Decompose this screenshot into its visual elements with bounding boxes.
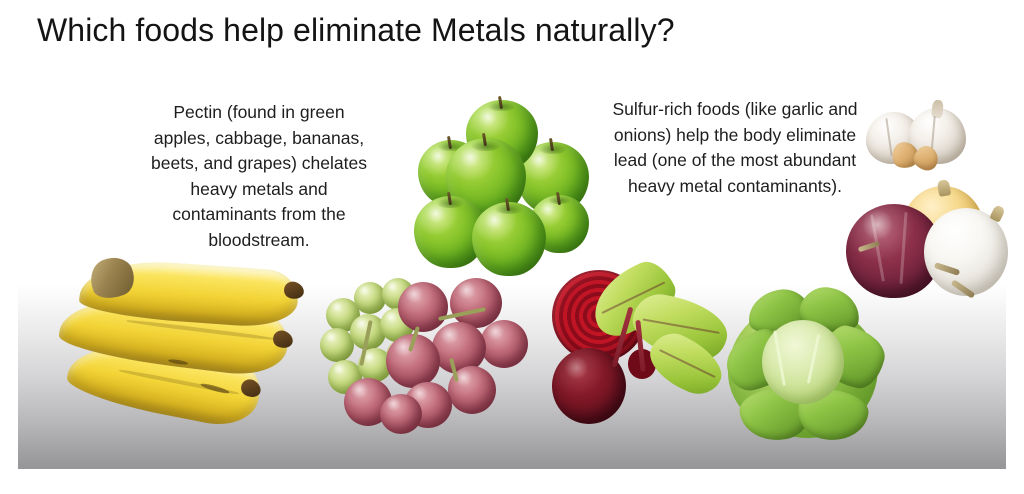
- grape-green: [320, 328, 354, 362]
- bananas-image: [18, 258, 310, 446]
- grapes-image: [320, 274, 540, 456]
- slide-canvas: Which foods help eliminate Metals natura…: [0, 0, 1024, 494]
- grape-red: [380, 394, 422, 434]
- cabbage-image: [726, 284, 882, 454]
- garlic-image: [866, 102, 978, 174]
- callout-text-right: Sulfur-rich foods (like garlic and onion…: [611, 97, 859, 199]
- callout-text-left: Pectin (found in green apples, cabbage, …: [143, 100, 375, 253]
- grape-green: [354, 282, 386, 314]
- onion-tip: [937, 179, 952, 197]
- beets-image: [552, 270, 732, 458]
- grape-red: [450, 278, 502, 328]
- page-title: Which foods help eliminate Metals natura…: [37, 12, 675, 49]
- grape-red: [398, 282, 448, 332]
- grape-red: [480, 320, 528, 368]
- apple: [472, 202, 546, 276]
- onions-image: [846, 186, 1010, 308]
- green-apples-image: [414, 100, 589, 276]
